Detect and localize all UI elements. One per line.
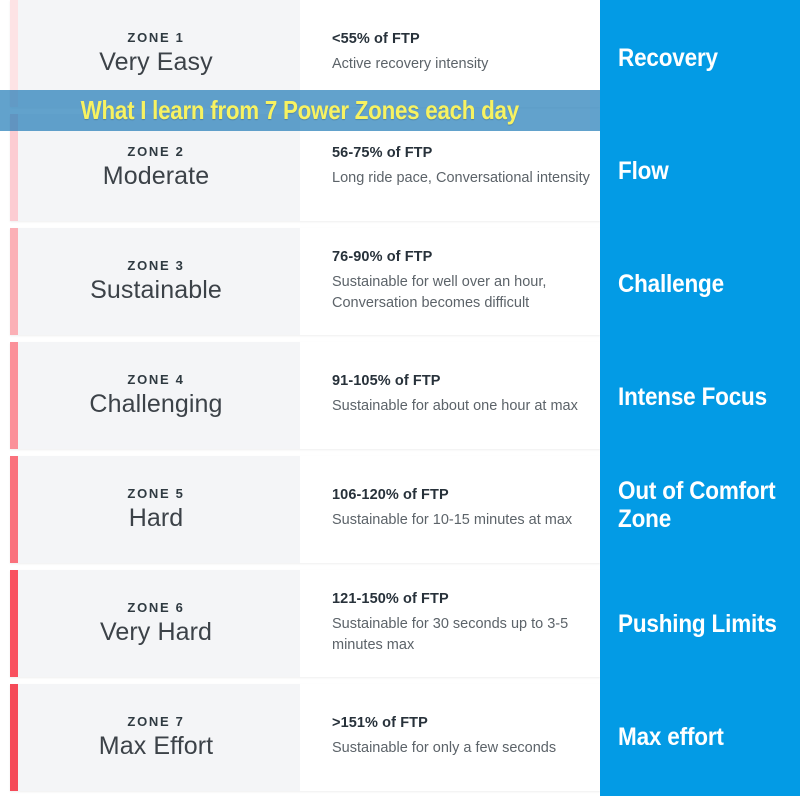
zone-title: Hard bbox=[129, 505, 184, 533]
insight-item: Out of Comfort Zone bbox=[618, 477, 785, 533]
zone-number-label: ZONE 1 bbox=[127, 30, 184, 45]
zone-name-cell: ZONE 3Sustainable bbox=[18, 228, 300, 335]
zone-detail-cell: 121-150% of FTPSustainable for 30 second… bbox=[300, 570, 600, 677]
zone-accent-bar bbox=[10, 684, 18, 791]
zone-accent-bar bbox=[10, 342, 18, 449]
table-row[interactable]: ZONE 4Challenging91-105% of FTPSustainab… bbox=[10, 342, 600, 449]
zone-title: Max Effort bbox=[99, 733, 213, 761]
zone-title: Challenging bbox=[89, 391, 222, 419]
zone-description: Sustainable for well over an hour, Conve… bbox=[332, 272, 592, 314]
zone-title: Very Easy bbox=[99, 49, 212, 77]
zone-title: Moderate bbox=[103, 163, 209, 191]
zone-accent-bar bbox=[10, 570, 18, 677]
table-row[interactable]: ZONE 5Hard106-120% of FTPSustainable for… bbox=[10, 456, 600, 563]
zone-name-cell: ZONE 4Challenging bbox=[18, 342, 300, 449]
zone-name-cell: ZONE 6Very Hard bbox=[18, 570, 300, 677]
insight-item: Pushing Limits bbox=[618, 610, 785, 638]
caption-banner: What I learn from 7 Power Zones each day bbox=[0, 90, 600, 131]
insight-panel: RecoveryFlowChallengeIntense FocusOut of… bbox=[600, 0, 800, 796]
zone-description: Sustainable for 30 seconds up to 3-5 min… bbox=[332, 614, 592, 656]
zone-detail-cell: 76-90% of FTPSustainable for well over a… bbox=[300, 228, 600, 335]
zone-detail-cell: 91-105% of FTPSustainable for about one … bbox=[300, 342, 600, 449]
zone-name-cell: ZONE 5Hard bbox=[18, 456, 300, 563]
zone-description: Sustainable for 10-15 minutes at max bbox=[332, 510, 592, 531]
zone-number-label: ZONE 2 bbox=[127, 144, 184, 159]
zone-title: Sustainable bbox=[90, 277, 222, 305]
zone-number-label: ZONE 7 bbox=[127, 714, 184, 729]
zone-detail-cell: 106-120% of FTPSustainable for 10-15 min… bbox=[300, 456, 600, 563]
zone-description: Sustainable for only a few seconds bbox=[332, 738, 592, 759]
zone-accent-bar bbox=[10, 456, 18, 563]
zone-title: Very Hard bbox=[100, 619, 212, 647]
insight-item: Recovery bbox=[618, 44, 785, 72]
insight-item: Max effort bbox=[618, 723, 785, 751]
zone-description: Long ride pace, Conversational intensity bbox=[332, 168, 592, 189]
zone-number-label: ZONE 5 bbox=[127, 486, 184, 501]
table-row[interactable]: ZONE 6Very Hard121-150% of FTPSustainabl… bbox=[10, 570, 600, 677]
zone-ftp-range: 76-90% of FTP bbox=[332, 249, 592, 265]
zone-number-label: ZONE 4 bbox=[127, 372, 184, 387]
insight-item: Intense Focus bbox=[618, 383, 785, 411]
insight-item: Challenge bbox=[618, 270, 785, 298]
table-row[interactable]: ZONE 3Sustainable76-90% of FTPSustainabl… bbox=[10, 228, 600, 335]
zone-ftp-range: 91-105% of FTP bbox=[332, 373, 592, 389]
caption-text: What I learn from 7 Power Zones each day bbox=[81, 95, 519, 126]
zone-accent-bar bbox=[10, 228, 18, 335]
zone-detail-cell: >151% of FTPSustainable for only a few s… bbox=[300, 684, 600, 791]
table-row[interactable]: ZONE 7Max Effort>151% of FTPSustainable … bbox=[10, 684, 600, 791]
zone-description: Sustainable for about one hour at max bbox=[332, 396, 592, 417]
zone-number-label: ZONE 6 bbox=[127, 600, 184, 615]
zone-ftp-range: >151% of FTP bbox=[332, 715, 592, 731]
zone-number-label: ZONE 3 bbox=[127, 258, 184, 273]
zone-ftp-range: 121-150% of FTP bbox=[332, 591, 592, 607]
zone-ftp-range: 106-120% of FTP bbox=[332, 487, 592, 503]
zone-ftp-range: <55% of FTP bbox=[332, 31, 592, 47]
zone-ftp-range: 56-75% of FTP bbox=[332, 145, 592, 161]
zone-name-cell: ZONE 7Max Effort bbox=[18, 684, 300, 791]
insight-item: Flow bbox=[618, 157, 785, 185]
zone-description: Active recovery intensity bbox=[332, 54, 592, 75]
